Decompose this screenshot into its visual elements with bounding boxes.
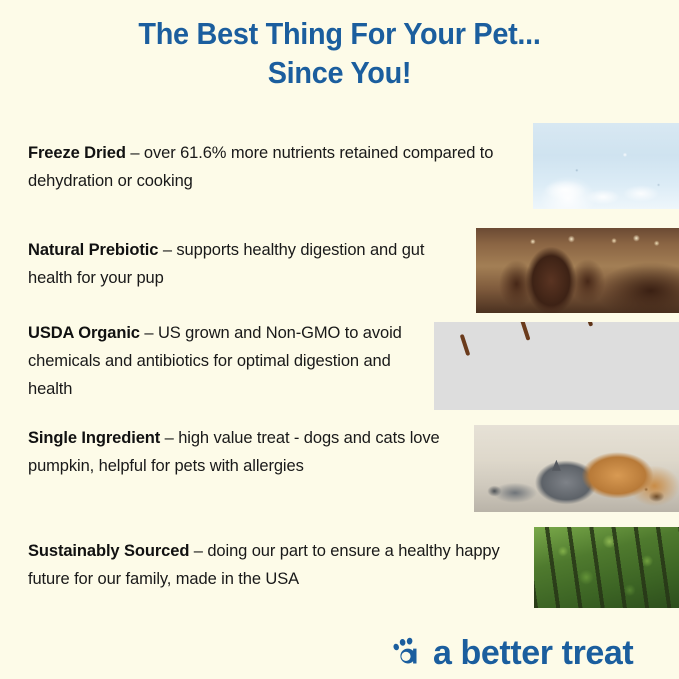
benefit-item: Sustainably Sourced – doing our part to … [28, 537, 528, 593]
benefit-separator: – [160, 429, 178, 447]
brand-logo: a better treat [392, 630, 666, 676]
benefit-separator: – [126, 144, 144, 162]
benefit-term: USDA Organic [28, 324, 140, 342]
benefit-image-sustainably-sourced [534, 527, 679, 608]
logo-wordmark: a better treat [433, 634, 633, 672]
benefit-item: Natural Prebiotic – supports healthy dig… [28, 236, 468, 292]
benefit-term: Freeze Dried [28, 144, 126, 162]
benefit-term: Natural Prebiotic [28, 241, 158, 259]
headline-line-2: Since You! [24, 53, 655, 92]
infographic-canvas: The Best Thing For Your Pet... Since You… [0, 0, 679, 679]
benefit-separator: – [140, 324, 158, 342]
benefit-image-natural-prebiotic [476, 228, 679, 313]
benefit-separator: – [158, 241, 176, 259]
benefit-item: Freeze Dried – over 61.6% more nutrients… [28, 139, 496, 195]
benefit-term: Sustainably Sourced [28, 542, 189, 560]
benefit-item: USDA Organic – US grown and Non-GMO to a… [28, 319, 432, 403]
paw-print-icon [392, 636, 426, 670]
benefit-image-usda-organic [434, 322, 679, 410]
page-title: The Best Thing For Your Pet... Since You… [24, 14, 655, 92]
benefit-term: Single Ingredient [28, 429, 160, 447]
headline-line-1: The Best Thing For Your Pet... [24, 14, 655, 53]
benefit-image-freeze-dried [533, 123, 679, 209]
benefit-image-single-ingredient [474, 425, 679, 512]
benefit-item: Single Ingredient – high value treat - d… [28, 424, 464, 480]
benefit-separator: – [189, 542, 207, 560]
